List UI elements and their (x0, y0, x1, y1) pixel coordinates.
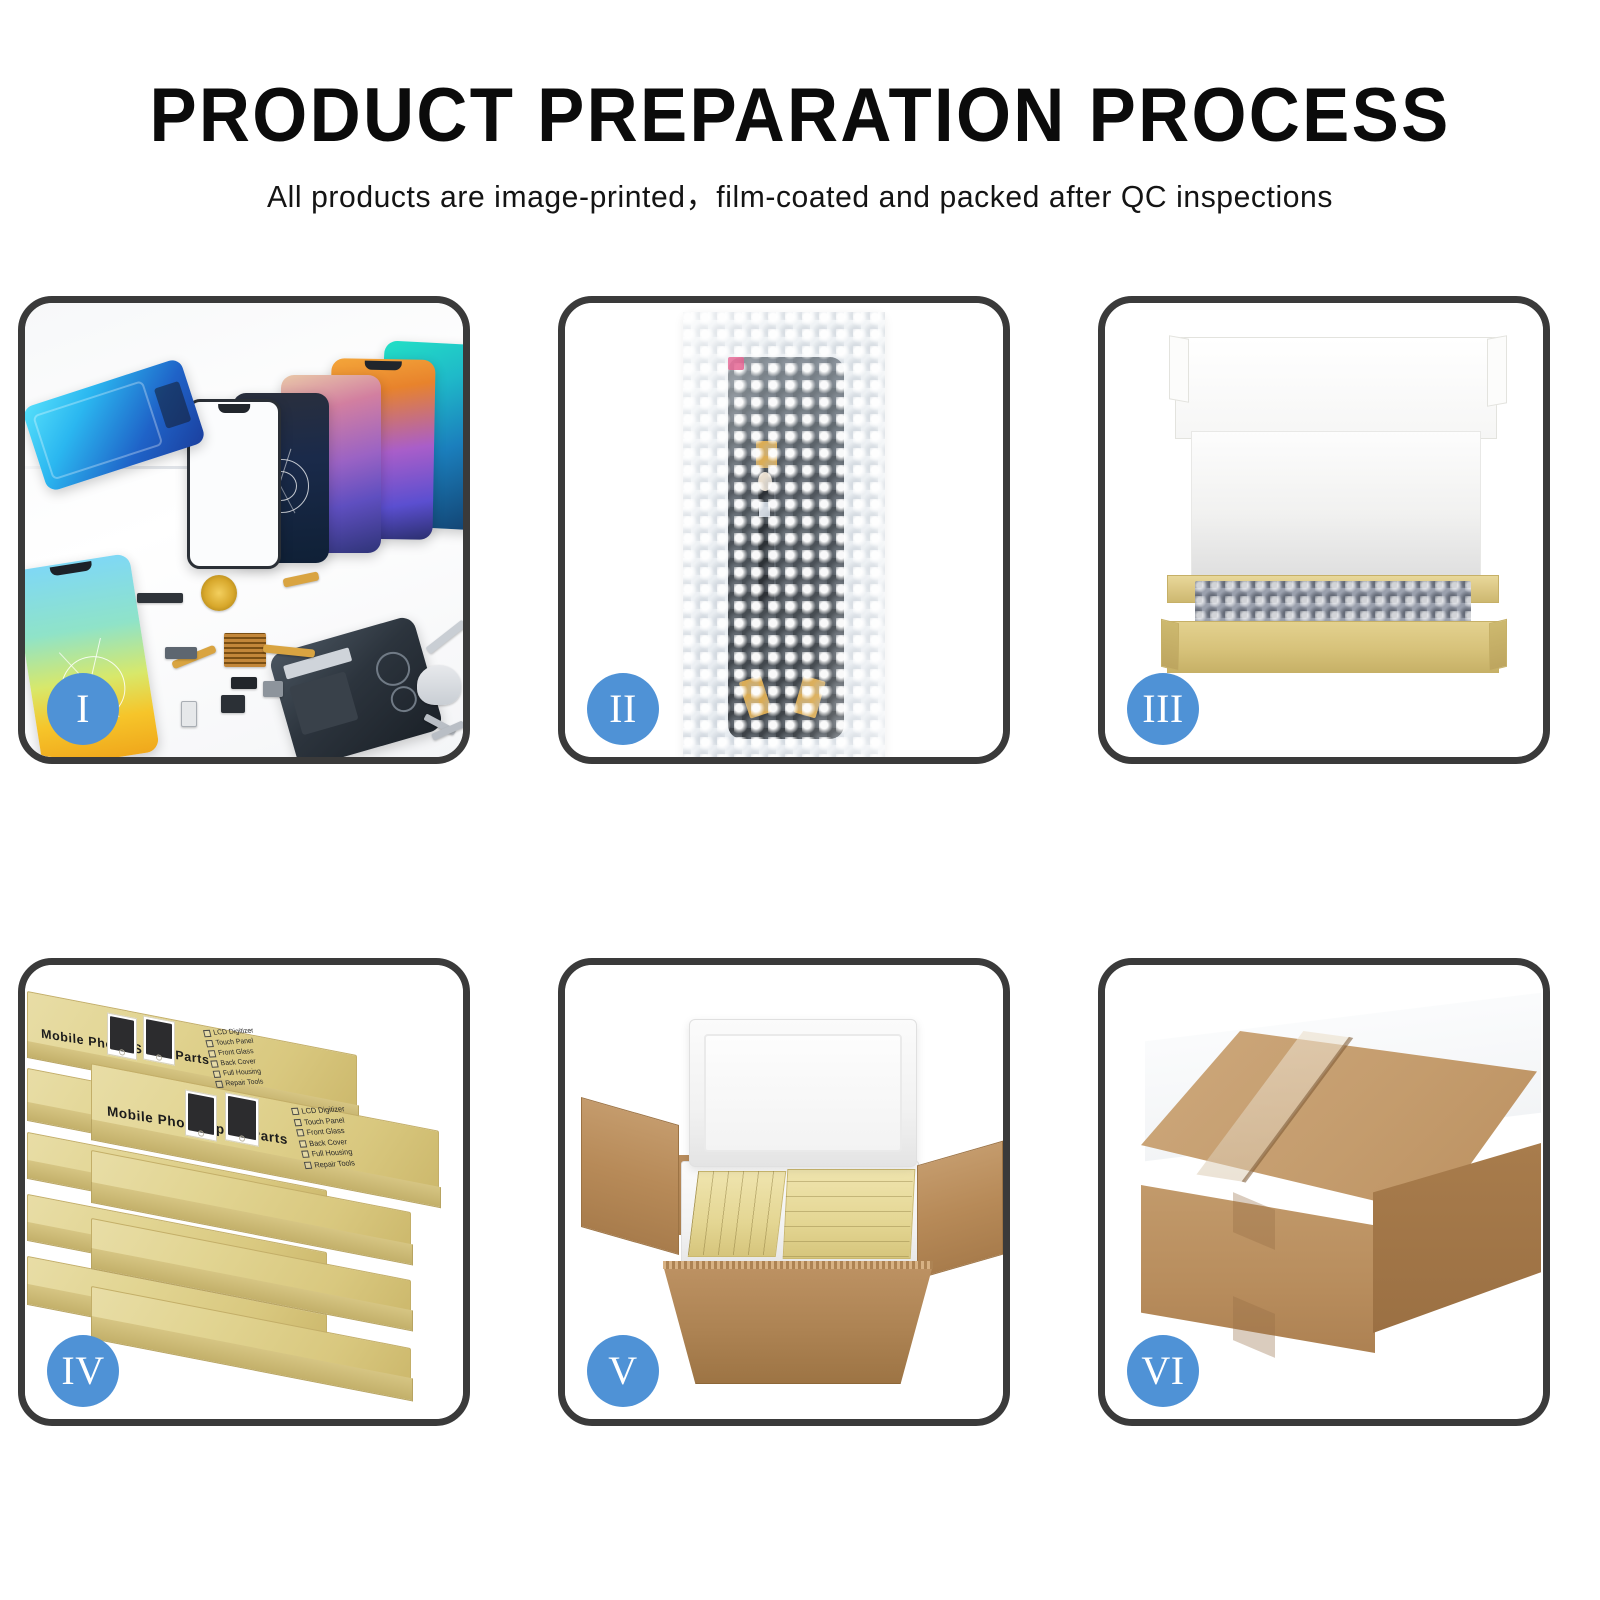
box-lid-flap-left (1169, 335, 1189, 403)
camera-ring-icon (388, 683, 420, 715)
checkbox-icon (205, 1040, 213, 1047)
component-wireless-coil (201, 575, 237, 611)
step-panel-6[interactable]: VI (1098, 958, 1550, 1426)
component-connector (165, 647, 197, 659)
component-module (231, 677, 257, 689)
phone-notch-icon (50, 561, 93, 577)
checkbox-icon (213, 1070, 221, 1077)
foam-sheet (1191, 431, 1481, 581)
component-flex-cable (282, 571, 319, 587)
component-ic-chip (224, 633, 266, 667)
foam-cooler-lid (689, 1019, 917, 1167)
component-module (221, 695, 245, 713)
checkbox-icon (304, 1161, 312, 1168)
retail-box-phone-image (143, 1015, 175, 1065)
carton-flap-left (581, 1097, 679, 1255)
checkbox-icon (294, 1119, 302, 1126)
lcd-backplate-blue (25, 358, 207, 493)
bubble-wrap-bag (683, 312, 884, 757)
component-sim-tray (181, 701, 197, 727)
checkbox-icon (291, 1108, 299, 1115)
tool-brush (417, 665, 461, 705)
lcd-connector-icon (154, 381, 192, 429)
step-panel-1[interactable]: I (18, 296, 470, 764)
grey-bubble-wrap-inside (1195, 581, 1471, 625)
checkbox-icon (301, 1151, 309, 1158)
phone-notch-icon (218, 404, 250, 413)
step-badge-2: II (587, 673, 659, 745)
carton-corrugation-edge (663, 1261, 933, 1269)
tool-tweezers (425, 620, 463, 655)
checkbox-icon (299, 1140, 307, 1147)
component-module (263, 681, 283, 697)
carton-front-wall (663, 1265, 933, 1384)
gold-box-front (1167, 621, 1499, 673)
camera-ring-icon (372, 648, 414, 690)
step-badge-6: VI (1127, 1335, 1199, 1407)
gold-box-side-right (1489, 619, 1507, 671)
retail-box-phone-image (107, 1012, 137, 1060)
box-lid-back (1175, 337, 1497, 439)
step-badge-4: IV (47, 1335, 119, 1407)
checkbox-icon (296, 1129, 304, 1136)
gold-box-seams (688, 1171, 784, 1255)
infographic-page: PRODUCT PREPARATION PROCESS All products… (0, 0, 1600, 1600)
retail-box-phone-image (225, 1092, 259, 1147)
checkbox-icon (210, 1060, 218, 1067)
step-panel-4[interactable]: Mobile Phone Spare Parts LCD Digitizer T… (18, 958, 470, 1426)
carton-flap-right (917, 1141, 1003, 1280)
step-badge-5: V (587, 1335, 659, 1407)
component-speaker (137, 593, 183, 603)
phone-notch-icon (365, 361, 403, 371)
checkbox-icon (203, 1030, 211, 1037)
retail-box-phone-image (185, 1089, 217, 1141)
gold-box-seams (783, 1169, 914, 1257)
process-grid: I II (0, 0, 1600, 1600)
step-panel-3[interactable]: III (1098, 296, 1550, 764)
lcd-bezel-icon (32, 380, 163, 481)
step-badge-3: III (1127, 673, 1199, 745)
plastic-highlight (683, 312, 884, 757)
step-badge-1: I (47, 673, 119, 745)
checkbox-icon (208, 1050, 216, 1057)
battery-icon (289, 671, 359, 735)
lid-inset (704, 1034, 902, 1152)
gold-box-side-left (1161, 619, 1179, 671)
box-lid-flap-right (1487, 335, 1507, 407)
step-panel-5[interactable]: V (558, 958, 1010, 1426)
step-panel-2[interactable]: II (558, 296, 1010, 764)
